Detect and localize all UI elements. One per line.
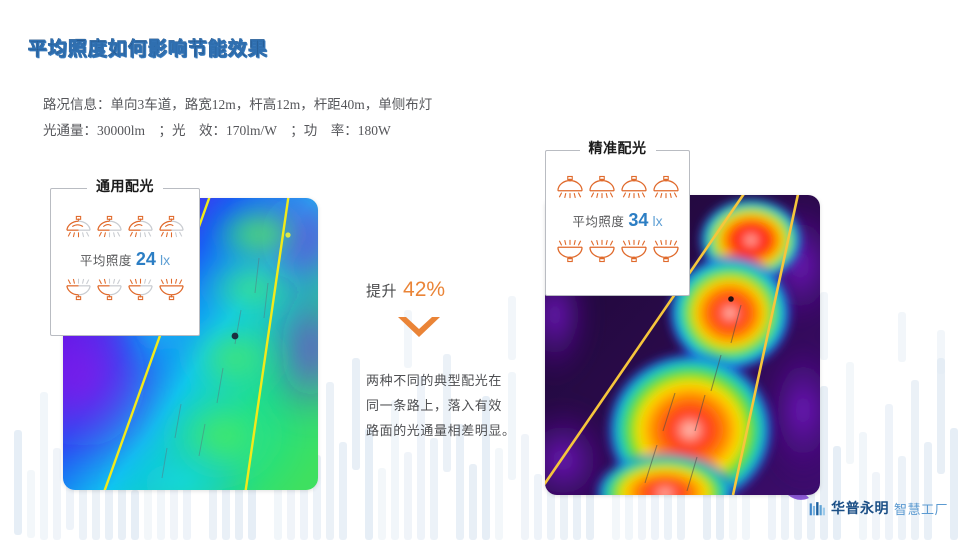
background-bar xyxy=(950,428,958,540)
background-bar xyxy=(469,464,477,540)
avg-value: 34 xyxy=(628,210,648,231)
pendant-lamp-icon xyxy=(158,215,185,240)
background-bar xyxy=(833,446,841,540)
background-bar xyxy=(40,392,48,540)
avg-unit: lx xyxy=(652,213,662,229)
description-block: 两种不同的典型配光在 同一条路上，落入有效 路面的光通量相差明显。 xyxy=(366,368,531,443)
pendant-lamp-icon xyxy=(96,215,123,240)
background-bar xyxy=(404,452,412,540)
uplift-label: 提升 xyxy=(366,280,397,301)
page-title: 平均照度如何影响节能效果 xyxy=(28,34,268,61)
description-line: 路面的光通量相差明显。 xyxy=(366,418,531,443)
avg-unit: lx xyxy=(160,252,170,268)
pendant-lamp-icon xyxy=(620,175,648,201)
uplift-line: 提升 42% xyxy=(366,278,531,302)
avg-value: 24 xyxy=(136,249,156,270)
pendant-lamp-inverted-icon xyxy=(65,276,92,301)
background-bar xyxy=(326,382,334,540)
pendant-lamp-inverted-icon xyxy=(158,276,185,301)
background-bar xyxy=(131,490,139,540)
background-bar xyxy=(859,432,867,540)
background-bar xyxy=(534,474,542,540)
pole-marker xyxy=(285,232,290,237)
background-bar xyxy=(885,404,893,540)
brand-logo: 华普永明 智慧工厂 xyxy=(809,498,948,518)
description-line: 同一条路上，落入有效 xyxy=(366,393,531,418)
pendant-lamp-inverted-icon xyxy=(96,276,123,301)
spec-line: 光通量：30000lm ；光 效：170lm/W ；功 率：180W xyxy=(43,118,432,144)
background-bar xyxy=(898,312,906,362)
lamp-row-bottom xyxy=(51,276,199,301)
chevron-down-icon xyxy=(396,315,442,341)
background-bar xyxy=(27,470,35,538)
pole-marker xyxy=(232,333,239,340)
background-bar xyxy=(378,468,386,540)
avg-label: 平均照度 xyxy=(80,250,132,269)
background-bar xyxy=(820,292,828,360)
pole-marker xyxy=(728,296,734,302)
card-title: 精准配光 xyxy=(580,138,656,158)
lamp-row-top xyxy=(546,175,689,201)
pendant-lamp-icon xyxy=(556,175,584,201)
comparison-callout: 提升 42% 两种不同的典型配光在 同一条路上，落入有效 路面的光通量相差明显。 xyxy=(366,278,531,443)
background-bar xyxy=(430,438,438,540)
pendant-lamp-icon xyxy=(652,175,680,201)
background-bar xyxy=(924,442,932,540)
pendant-lamp-icon xyxy=(588,175,616,201)
background-bar xyxy=(937,330,945,374)
factory-logo-icon xyxy=(809,500,826,517)
average-illuminance-right: 平均照度 34 lx xyxy=(546,210,689,231)
pendant-lamp-icon xyxy=(127,215,154,240)
description-line: 两种不同的典型配光在 xyxy=(366,368,531,393)
pendant-lamp-inverted-icon xyxy=(620,237,648,263)
background-bar xyxy=(521,434,529,540)
background-bar xyxy=(495,448,503,540)
brand-name: 华普永明 xyxy=(831,498,889,518)
road-spec-block: 路况信息：单向3车道，路宽12m，杆高12m，杆距40m，单侧布灯 光通量：30… xyxy=(43,92,432,144)
background-bar xyxy=(53,448,61,540)
lamp-row-top xyxy=(51,215,199,240)
pendant-lamp-inverted-icon xyxy=(556,237,584,263)
background-bar xyxy=(339,442,347,540)
avg-label: 平均照度 xyxy=(572,211,624,230)
background-bar xyxy=(14,430,22,535)
background-bar xyxy=(365,428,373,540)
pendant-lamp-inverted-icon xyxy=(652,237,680,263)
average-illuminance-left: 平均照度 24 lx xyxy=(51,249,199,270)
spec-line: 路况信息：单向3车道，路宽12m，杆高12m，杆距40m，单侧布灯 xyxy=(43,92,432,118)
brand-tagline: 智慧工厂 xyxy=(894,499,948,518)
background-bar xyxy=(937,358,945,474)
pendant-lamp-inverted-icon xyxy=(588,237,616,263)
pendant-lamp-icon xyxy=(65,215,92,240)
card-precise-distribution: 精准配光 xyxy=(545,150,690,296)
uplift-value: 42% xyxy=(403,278,445,302)
pendant-lamp-inverted-icon xyxy=(127,276,154,301)
card-general-distribution: 通用配光 xyxy=(50,188,200,336)
lamp-row-bottom xyxy=(546,237,689,263)
background-bar xyxy=(846,362,854,464)
background-bar xyxy=(352,358,360,470)
card-title: 通用配光 xyxy=(87,176,163,196)
